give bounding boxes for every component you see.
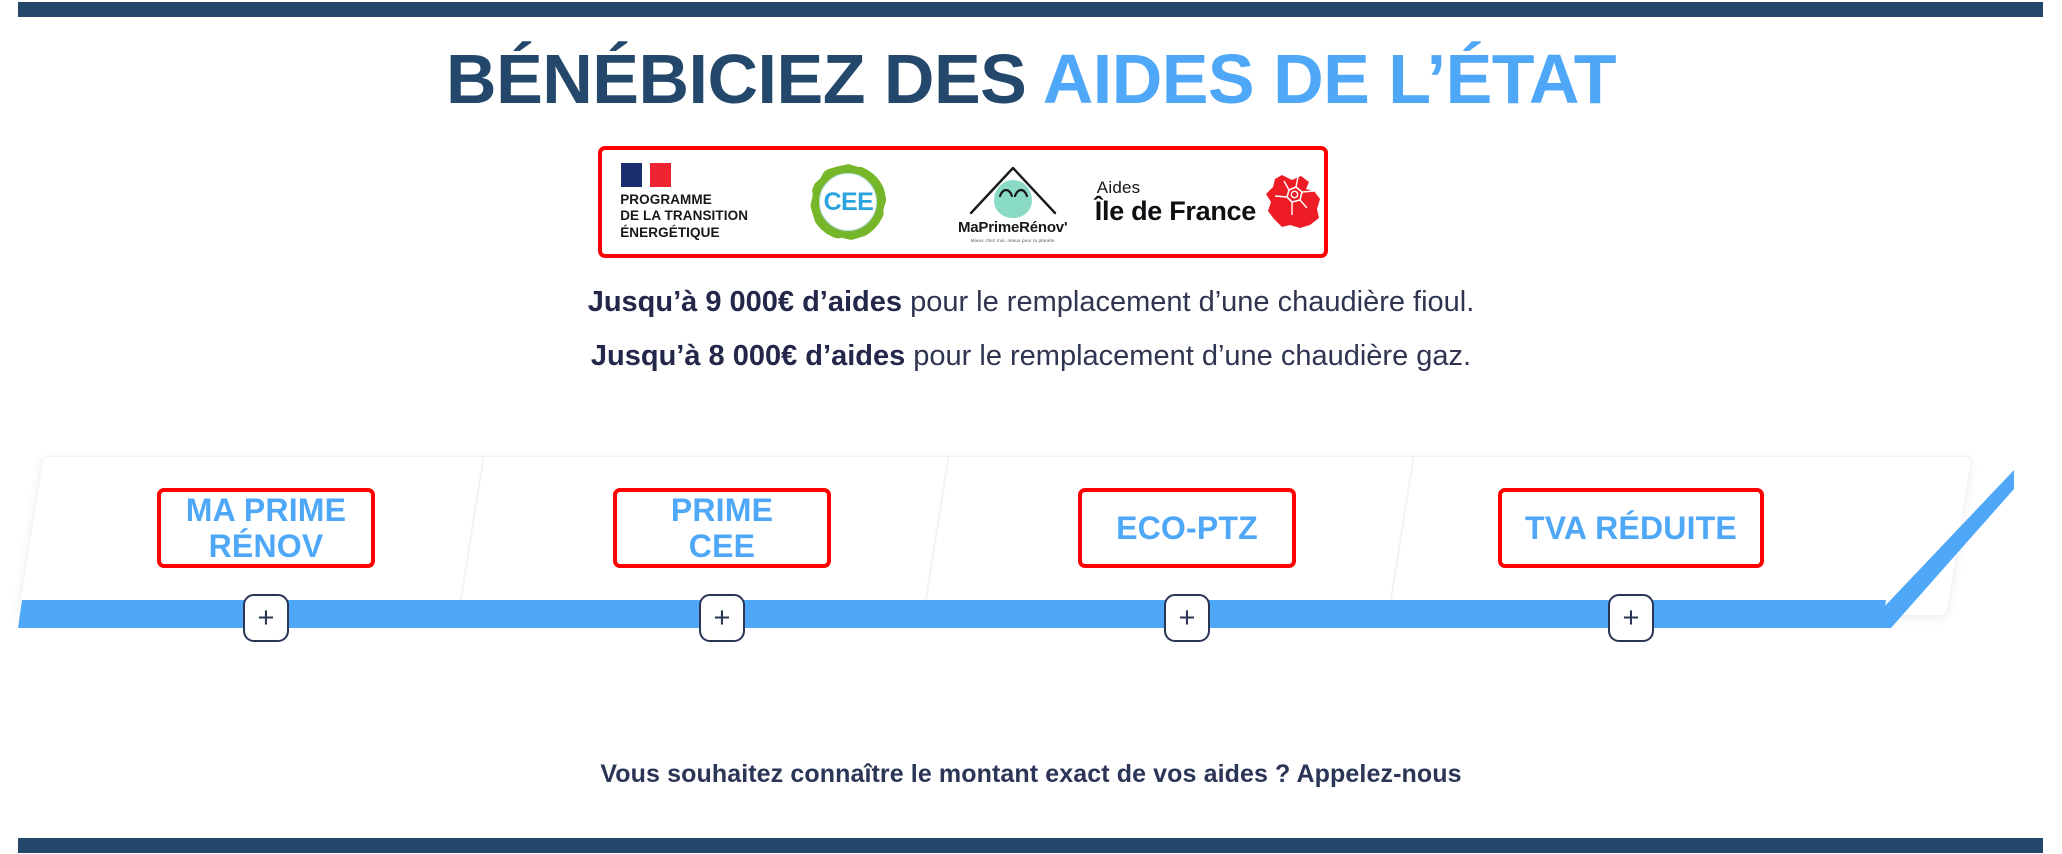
logo-cee-label: CEE xyxy=(824,190,874,215)
aid-button-tva-reduite[interactable]: TVA RÉDUITE xyxy=(1498,488,1764,568)
subsidy-line-gaz: Jusqu’à 8 000€ d’aides pour le remplacem… xyxy=(0,340,2062,373)
logo-idf-big: Île de France xyxy=(1095,197,1256,225)
cee-badge-icon: CEE xyxy=(810,164,886,240)
subsidy-line-fioul: Jusqu’à 9 000€ d’aides pour le remplacem… xyxy=(0,286,2062,319)
ribbon-blue-bar xyxy=(18,600,1886,628)
logo-maprimerenov-tagline: Mieux chez moi, mieux pour la planète xyxy=(971,238,1055,243)
aides-etat-section: BÉNÉBICIEZ DES AIDES DE L’ÉTAT PROGRAMME… xyxy=(0,0,2062,854)
aid-button-prime-cee[interactable]: PRIME CEE xyxy=(613,488,831,568)
top-divider-rule xyxy=(18,2,2043,17)
logo-pte-line2: DE LA TRANSITION xyxy=(620,208,748,224)
logo-idf-small: Aides xyxy=(1097,179,1256,197)
expand-button-tva-reduite[interactable]: + xyxy=(1608,594,1654,642)
subsidy-line-fioul-rest: pour le remplacement d’une chaudière fio… xyxy=(902,286,1474,318)
logo-aides-ile-de-france: Aides Île de France xyxy=(1095,150,1324,254)
house-roof-icon xyxy=(965,161,1061,215)
expand-button-prime-cee[interactable]: + xyxy=(699,594,745,642)
logo-maprimerenov-name: MaPrimeRénov' xyxy=(958,219,1067,236)
page-title: BÉNÉBICIEZ DES AIDES DE L’ÉTAT xyxy=(0,44,2062,114)
logo-maprimerenov: MaPrimeRénov' Mieux chez moi, mieux pour… xyxy=(931,150,1095,254)
subsidy-line-fioul-amount: Jusqu’à 9 000€ d’aides xyxy=(588,286,902,318)
french-flag-icon xyxy=(621,163,671,187)
page-title-light-part: AIDES DE L’ÉTAT xyxy=(1043,40,1616,118)
ile-de-france-map-icon xyxy=(1262,173,1324,231)
aids-ribbon: MA PRIME RÉNOV PRIME CEE ECO-PTZ TVA RÉD… xyxy=(0,446,2062,666)
aid-button-eco-ptz[interactable]: ECO-PTZ xyxy=(1078,488,1296,568)
logo-pte-line3: ÉNERGÉTIQUE xyxy=(620,225,748,241)
expand-button-ma-prime-renov[interactable]: + xyxy=(243,594,289,642)
aid-button-ma-prime-renov[interactable]: MA PRIME RÉNOV xyxy=(157,488,375,568)
bottom-divider-rule xyxy=(18,838,2043,853)
subsidy-line-gaz-amount: Jusqu’à 8 000€ d’aides xyxy=(591,340,905,372)
subsidy-line-gaz-rest: pour le remplacement d’une chaudière gaz… xyxy=(905,340,1471,372)
logo-cee: CEE xyxy=(766,150,930,254)
expand-button-eco-ptz[interactable]: + xyxy=(1164,594,1210,642)
page-title-dark-part: BÉNÉBICIEZ DES xyxy=(446,40,1043,118)
partner-logos-bar: PROGRAMME DE LA TRANSITION ÉNERGÉTIQUE C… xyxy=(598,146,1328,258)
contact-prompt: Vous souhaitez connaître le montant exac… xyxy=(0,760,2062,789)
logo-pte-line1: PROGRAMME xyxy=(620,192,748,208)
logo-programme-transition-energetique: PROGRAMME DE LA TRANSITION ÉNERGÉTIQUE xyxy=(602,150,766,254)
